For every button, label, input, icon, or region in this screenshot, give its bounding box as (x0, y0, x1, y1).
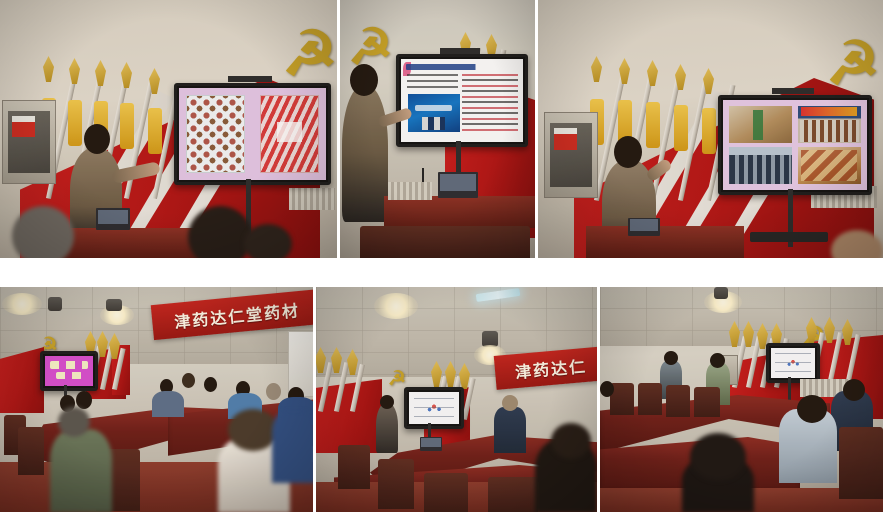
scene-conference-room-3: ☭ (538, 0, 883, 258)
presentation-screen (718, 95, 872, 195)
photo-bottom-right[interactable]: ☭ (600, 287, 883, 512)
laptop (96, 208, 130, 230)
screen-slide-herbal-chart (179, 88, 326, 180)
slide-left-text (407, 74, 458, 91)
slide-herb-poster (260, 95, 319, 172)
slide-right-bullets (462, 74, 518, 134)
audience-head (244, 224, 292, 258)
slide-photo-2 (798, 106, 862, 144)
photo-top-center[interactable]: ☭ (340, 0, 535, 258)
cabinet-sign (554, 128, 577, 150)
presentation-screen (396, 54, 528, 147)
chair (488, 477, 538, 512)
attendee-head (204, 377, 217, 392)
slide-photo-4 (798, 147, 862, 185)
chair (638, 383, 662, 415)
slide-photo-3 (729, 147, 793, 185)
radiator (289, 188, 335, 210)
chair (839, 427, 883, 499)
photo-top-left[interactable]: ☭ (0, 0, 337, 258)
collage-row-bottom: 津药达仁堂药材 ☭ (0, 287, 883, 512)
wall-cabinet (2, 100, 56, 184)
presenter-head (84, 124, 110, 154)
wall-cabinet (544, 112, 598, 198)
foreground-attendee (272, 411, 313, 483)
foreground-attendee-head (228, 409, 278, 451)
attendee-head (600, 381, 614, 397)
chair (666, 385, 690, 417)
foreground-attendee (50, 429, 112, 512)
laptop (420, 437, 442, 451)
screen-slide-diagram (771, 348, 815, 378)
presentation-screen (404, 387, 464, 429)
scene-meeting-wide-1: 津药达仁堂药材 ☭ (0, 287, 313, 512)
foreground-attendee-head (551, 423, 591, 459)
standing-attendee-head (710, 353, 725, 368)
seated-attendee-head (797, 395, 827, 423)
screen-slide-photo-collage (723, 100, 867, 190)
scene-meeting-wide-3: ☭ (600, 287, 883, 512)
laptop (628, 218, 660, 236)
presenter-head (350, 64, 378, 96)
podium (586, 226, 744, 258)
standing-attendee-head (502, 395, 518, 411)
screen-stand-crossbar (772, 88, 814, 94)
screen-slide-regulation (401, 59, 523, 142)
screen-slide-diagram (409, 392, 459, 424)
podium (384, 196, 535, 228)
flags (318, 357, 370, 411)
scene-conference-room-2: ☭ (340, 0, 535, 258)
screen-stand (788, 377, 791, 403)
standing-attendee (494, 407, 526, 453)
slide-photo-1 (729, 106, 793, 144)
attendee-head (76, 391, 92, 409)
slide-herb-specimen-grid (186, 95, 245, 172)
foreground-attendee-head (690, 433, 746, 481)
laptop (438, 172, 478, 198)
chair (18, 427, 44, 475)
screen-stand-crossbar (228, 76, 272, 82)
photo-bottom-center[interactable]: 津药达仁 ☭ (316, 287, 597, 512)
chair (360, 226, 530, 258)
scene-conference-room-1: ☭ (0, 0, 337, 258)
photo-collage: ☭ (0, 0, 883, 512)
presenter-head (614, 136, 642, 168)
cabinet-sign (12, 116, 35, 137)
presenter (342, 86, 388, 222)
presenter-head (380, 395, 394, 409)
chair (338, 445, 370, 489)
audience-head (12, 206, 74, 258)
photo-bottom-left[interactable]: 津药达仁堂药材 ☭ (0, 287, 313, 512)
screen-stand-crossbar (440, 48, 480, 54)
presentation-screen (40, 351, 98, 391)
presentation-screen (174, 83, 331, 185)
seated-attendee-head (843, 379, 865, 401)
radiator (388, 182, 432, 200)
collage-row-top: ☭ (0, 0, 883, 258)
slide-inset-photo (408, 94, 459, 132)
standing-attendee-head (664, 351, 678, 365)
attendee-body (152, 391, 184, 417)
attendee-head (182, 373, 195, 388)
presenter (376, 403, 398, 453)
slide-title-bar (406, 64, 518, 70)
chair (424, 473, 468, 512)
chair (378, 459, 414, 509)
attendee-head (266, 383, 281, 400)
screen-stand-base (750, 232, 828, 242)
photo-top-right[interactable]: ☭ (538, 0, 883, 258)
chair (694, 387, 720, 417)
scene-meeting-wide-2: 津药达仁 ☭ (316, 287, 597, 512)
foreground-attendee-head (58, 407, 90, 437)
screen-slide-pink-title (45, 356, 93, 386)
presentation-screen (766, 343, 820, 383)
